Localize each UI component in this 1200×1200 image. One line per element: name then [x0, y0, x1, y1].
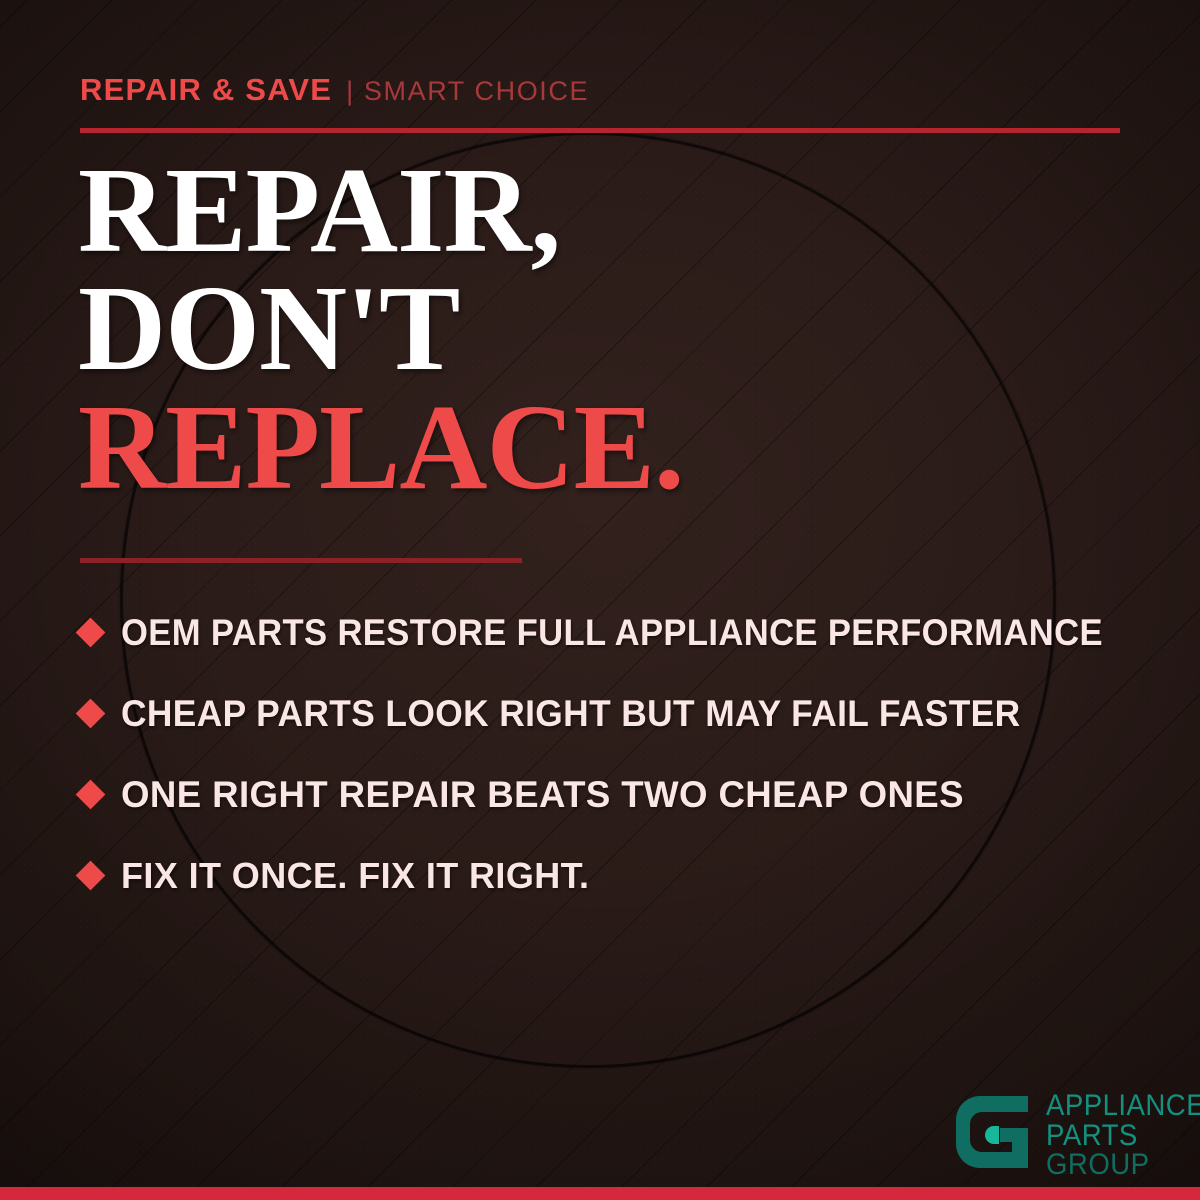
eyebrow: REPAIR & SAVE | SMART CHOICE [80, 72, 589, 108]
headline-divider-rule [80, 558, 522, 563]
headline-line-2: DON'T [78, 270, 683, 388]
benefit-list: OEM PARTS RESTORE FULL APPLIANCE PERFORM… [80, 592, 1150, 916]
list-item-label: CHEAP PARTS LOOK RIGHT BUT MAY FAIL FAST… [121, 693, 1021, 735]
diamond-bullet-icon [76, 780, 106, 810]
list-item: CHEAP PARTS LOOK RIGHT BUT MAY FAIL FAST… [80, 673, 1150, 754]
brand-logo: APPLIANCE PARTS GROUP [950, 1090, 1200, 1180]
headline-line-1: REPAIR, [78, 152, 683, 270]
list-item: FIX IT ONCE. FIX IT RIGHT. [80, 835, 1150, 916]
eyebrow-sub-label: | SMART CHOICE [346, 76, 589, 107]
brand-word-line-2: PARTS [1046, 1121, 1200, 1151]
headline-line-3: REPLACE. [78, 389, 683, 507]
diamond-bullet-icon [76, 618, 106, 648]
brand-word-line-1: APPLIANCE [1046, 1091, 1200, 1121]
promo-poster: REPAIR & SAVE | SMART CHOICE REPAIR, DON… [0, 0, 1200, 1200]
list-item-label: ONE RIGHT REPAIR BEATS TWO CHEAP ONES [121, 774, 964, 816]
brand-word-line-3: GROUP [1046, 1150, 1200, 1180]
headline: REPAIR, DON'T REPLACE. [78, 152, 683, 507]
list-item-label: FIX IT ONCE. FIX IT RIGHT. [121, 855, 589, 897]
list-item: OEM PARTS RESTORE FULL APPLIANCE PERFORM… [80, 592, 1150, 673]
list-item-label: OEM PARTS RESTORE FULL APPLIANCE PERFORM… [121, 612, 1103, 654]
diamond-bullet-icon [76, 699, 106, 729]
eyebrow-main-label: REPAIR & SAVE [80, 72, 332, 108]
brand-wordmark: APPLIANCE PARTS GROUP [1046, 1091, 1200, 1180]
bottom-accent-bar [0, 1187, 1200, 1200]
g-letter-mark-icon [950, 1090, 1034, 1174]
list-item: ONE RIGHT REPAIR BEATS TWO CHEAP ONES [80, 754, 1150, 835]
header-divider-rule [80, 128, 1120, 133]
diamond-bullet-icon [76, 861, 106, 891]
